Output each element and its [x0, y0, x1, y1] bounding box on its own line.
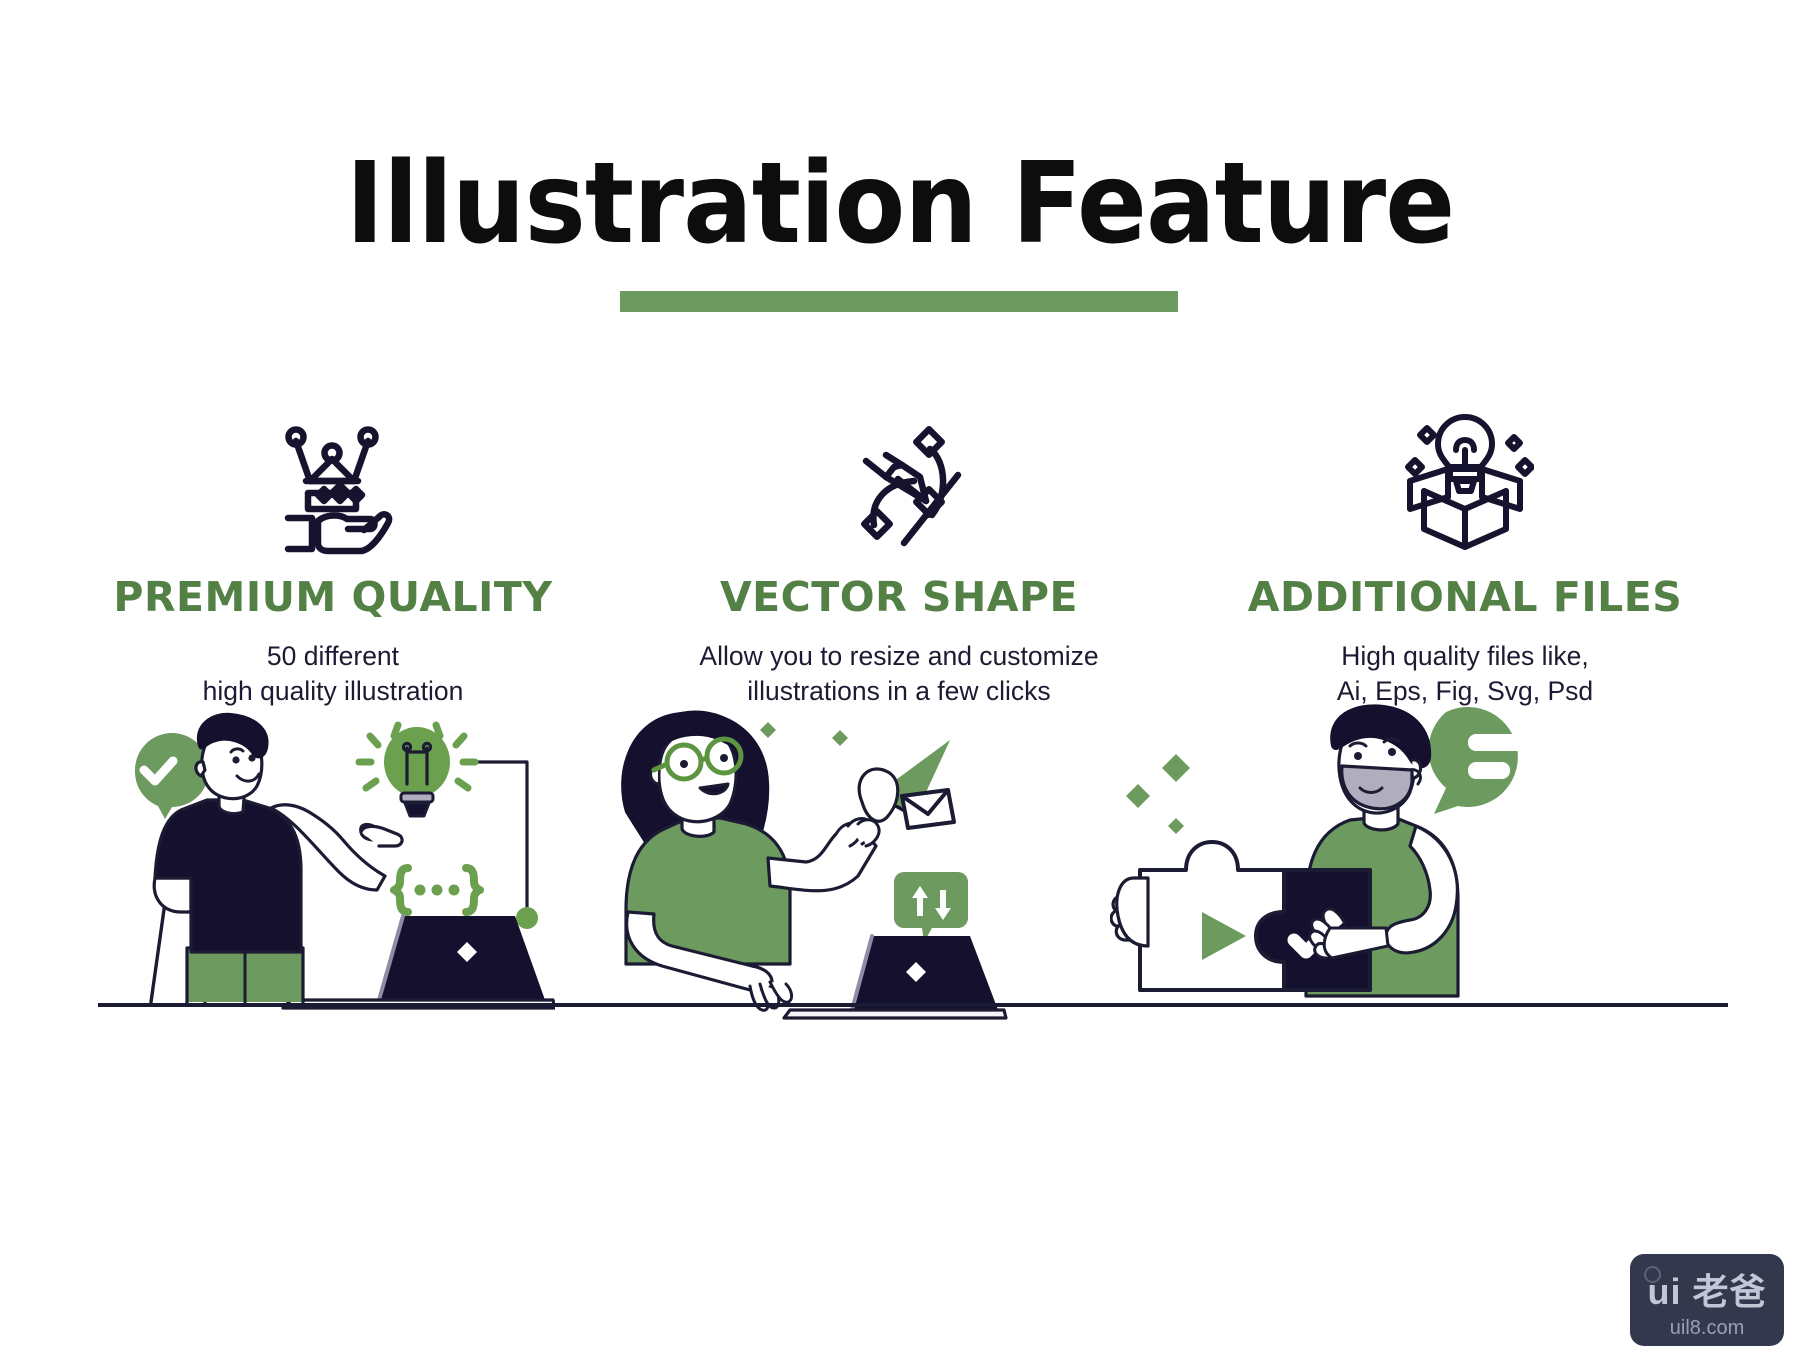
feature-description: Allow you to resize and customize illust…: [699, 639, 1098, 709]
feature-description: High quality files like, Ai, Eps, Fig, S…: [1337, 639, 1593, 709]
feature-list: PREMIUM QUALITY 50 different high qualit…: [50, 405, 1750, 709]
feature-card-vector-shape: VECTOR SHAPE Allow you to resize and cus…: [616, 405, 1182, 709]
ground-line: [98, 1003, 1728, 1007]
laptop: [283, 916, 555, 1008]
feature-title: VECTOR SHAPE: [720, 573, 1078, 621]
watermark-sub-text: uil8.com: [1630, 1318, 1784, 1338]
puzzle-piece-play: [1140, 842, 1284, 990]
poster-canvas: Illustration Feature: [0, 0, 1800, 1360]
illustration-masked-man-holding-puzzle-pieces: [1110, 700, 1580, 1010]
lightbulb-in-box-icon: [1396, 405, 1534, 555]
chat-speech-bubble: [1428, 707, 1526, 814]
envelope-icon: [902, 790, 954, 828]
crown-on-hand-icon: [268, 405, 398, 555]
feature-card-additional-files: ADDITIONAL FILES High quality files like…: [1182, 405, 1748, 709]
feature-desc-line-1: Allow you to resize and customize: [699, 639, 1098, 674]
feature-title: PREMIUM QUALITY: [113, 573, 552, 621]
feature-description: 50 different high quality illustration: [203, 639, 464, 709]
sync-badge-icon: [894, 872, 968, 942]
feature-desc-line-1: 50 different: [203, 639, 464, 674]
lightbulb-icon: [359, 725, 475, 816]
page-title: Illustration Feature: [72, 148, 1728, 260]
sparkle-diamonds: [1126, 754, 1190, 834]
title-underline-rule: [620, 291, 1178, 312]
code-braces-icon: [394, 868, 480, 912]
watermark-main-text: ui 老爸: [1630, 1274, 1784, 1310]
feature-desc-line-1: High quality files like,: [1337, 639, 1593, 674]
feature-title: ADDITIONAL FILES: [1248, 573, 1683, 621]
illustration-woman-waving-with-paper-plane-and-laptop: [600, 700, 1030, 1020]
pen-tool-vector-icon: [834, 405, 964, 555]
feature-card-premium-quality: PREMIUM QUALITY 50 different high qualit…: [50, 405, 616, 709]
watermark-badge: ui 老爸 uil8.com: [1630, 1254, 1784, 1346]
illustration-man-with-idea-lightbulb-and-laptop: [95, 700, 555, 1010]
